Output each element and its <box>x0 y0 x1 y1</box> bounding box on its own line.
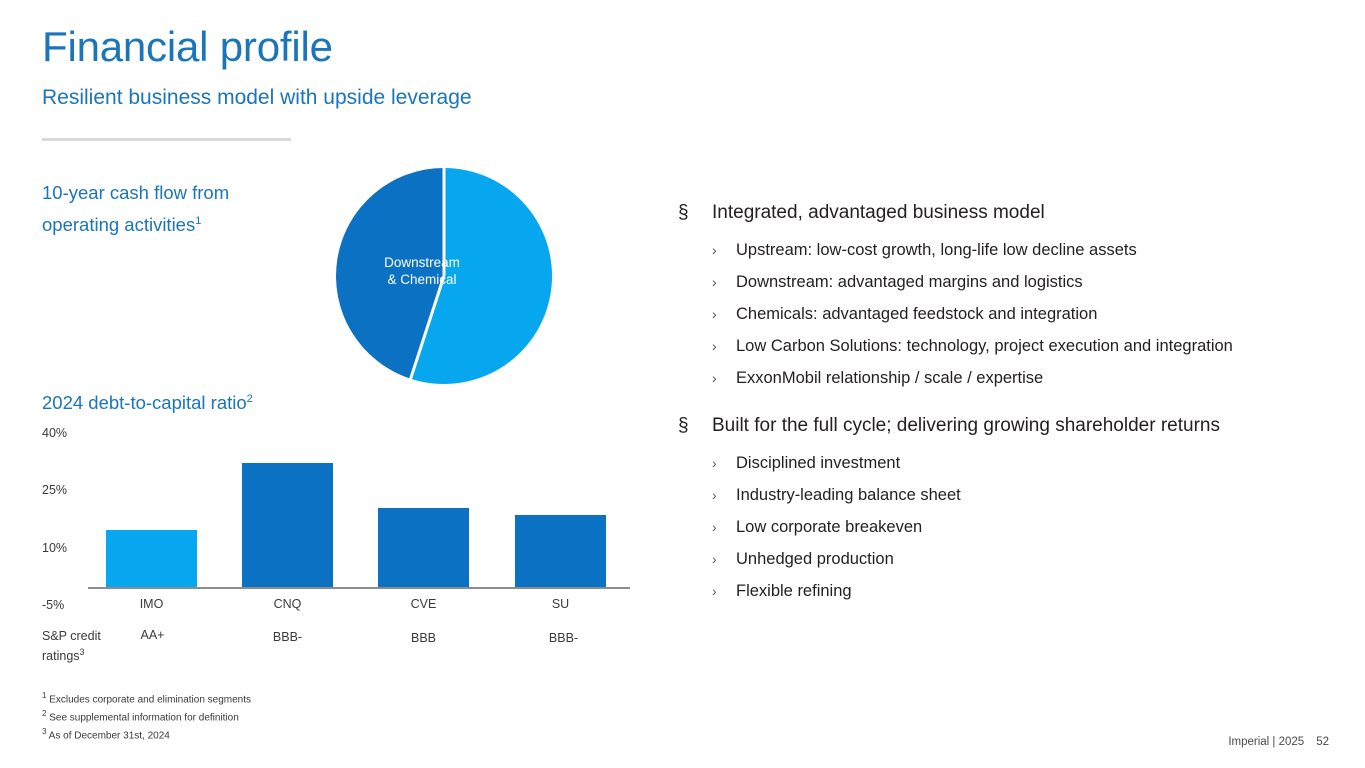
bar-cve <box>378 508 469 587</box>
x-axis-line <box>88 587 630 589</box>
bullet-item: › Low corporate breakeven <box>678 511 1338 543</box>
footnote-2: 2 See supplemental information for defin… <box>42 707 251 725</box>
y-axis-tick-10: 10% <box>42 541 88 555</box>
bullet-list: § Integrated, advantaged business model … <box>678 198 1338 624</box>
chevron-right-icon: › <box>712 479 736 511</box>
bullet-item: › ExxonMobil relationship / scale / expe… <box>678 362 1338 394</box>
pie-heading-footnote-marker: 1 <box>195 215 201 227</box>
bullet-item-text: Low corporate breakeven <box>736 511 922 543</box>
footnote-2-text: See supplemental information for definit… <box>46 712 238 723</box>
chevron-right-icon: › <box>712 447 736 479</box>
footnote-3: 3 As of December 31st, 2024 <box>42 725 251 743</box>
bullet-item-text: ExxonMobil relationship / scale / expert… <box>736 362 1043 394</box>
x-axis-label-cve: CVE <box>378 597 469 611</box>
footnote-1: 1 Excludes corporate and elimination seg… <box>42 689 251 707</box>
bar-chart-heading: 2024 debt-to-capital ratio2 <box>42 392 253 414</box>
footnotes-block: 1 Excludes corporate and elimination seg… <box>42 689 251 742</box>
bar-su <box>515 515 606 587</box>
page-title: Financial profile <box>42 24 333 70</box>
page-number: 52 <box>1316 736 1329 748</box>
bullet-item-text: Downstream: advantaged margins and logis… <box>736 266 1083 298</box>
slide-footer: Imperial | 202552 <box>1228 736 1329 748</box>
section-marker-icon: § <box>678 198 712 228</box>
y-axis-tick-40: 40% <box>42 426 88 440</box>
footnote-3-text: As of December 31st, 2024 <box>46 730 169 741</box>
bullet-heading-1: § Integrated, advantaged business model <box>678 198 1338 228</box>
chevron-right-icon: › <box>712 511 736 543</box>
pie-svg <box>336 168 552 384</box>
debt-to-capital-bar-chart: 40% 25% 10% -5% IMO CNQ CVE SU S&P credi… <box>42 420 642 670</box>
y-axis-tick-25: 25% <box>42 483 88 497</box>
footnote-1-text: Excludes corporate and elimination segme… <box>46 694 251 705</box>
bar-cnq <box>242 463 333 587</box>
footer-brand: Imperial | 2025 <box>1228 736 1304 748</box>
bullet-item: › Upstream: low-cost growth, long-life l… <box>678 234 1338 266</box>
bullet-heading-2-text: Built for the full cycle; delivering gro… <box>712 411 1220 441</box>
pie-chart-heading: 10-year cash flow from operating activit… <box>42 179 292 239</box>
pie-heading-line2: operating activities <box>42 214 195 235</box>
bullet-group-2: § Built for the full cycle; delivering g… <box>678 411 1338 607</box>
chevron-right-icon: › <box>712 234 736 266</box>
chevron-right-icon: › <box>712 543 736 575</box>
bullet-item: › Industry-leading balance sheet <box>678 479 1338 511</box>
bullet-heading-2: § Built for the full cycle; delivering g… <box>678 411 1338 441</box>
rating-value-cnq: BBB- <box>242 630 333 644</box>
bullet-item: › Disciplined investment <box>678 447 1338 479</box>
pie-heading-line1: 10-year cash flow from <box>42 182 229 203</box>
bullet-item-text: Chemicals: advantaged feedstock and inte… <box>736 298 1097 330</box>
cash-flow-pie-chart: Downstream & Chemical Upstream <box>336 168 552 384</box>
header-divider <box>42 138 291 141</box>
bullet-item-text: Unhedged production <box>736 543 894 575</box>
bullet-item-text: Upstream: low-cost growth, long-life low… <box>736 234 1137 266</box>
x-axis-label-su: SU <box>515 597 606 611</box>
chevron-right-icon: › <box>712 298 736 330</box>
sp-ratings-label-line2: ratings <box>42 649 80 663</box>
chevron-right-icon: › <box>712 575 736 607</box>
bullet-group-1: § Integrated, advantaged business model … <box>678 198 1338 394</box>
bullet-item: › Chemicals: advantaged feedstock and in… <box>678 298 1338 330</box>
chevron-right-icon: › <box>712 266 736 298</box>
chevron-right-icon: › <box>712 330 736 362</box>
bullet-item-text: Industry-leading balance sheet <box>736 479 961 511</box>
bar-imo <box>106 530 197 587</box>
bullet-item-text: Low Carbon Solutions: technology, projec… <box>736 330 1233 362</box>
section-marker-icon: § <box>678 411 712 441</box>
y-axis-tick-neg5: -5% <box>42 598 88 612</box>
bullet-item: › Unhedged production <box>678 543 1338 575</box>
bullet-item: › Low Carbon Solutions: technology, proj… <box>678 330 1338 362</box>
bullet-item-text: Disciplined investment <box>736 447 900 479</box>
bullet-heading-1-text: Integrated, advantaged business model <box>712 198 1045 228</box>
rating-value-su: BBB- <box>518 631 609 645</box>
bar-heading-footnote-marker: 2 <box>247 393 253 405</box>
rating-value-cve: BBB <box>378 631 469 645</box>
x-axis-label-imo: IMO <box>106 597 197 611</box>
rating-value-imo: AA+ <box>107 628 198 642</box>
x-axis-label-cnq: CNQ <box>242 597 333 611</box>
bar-heading-text: 2024 debt-to-capital ratio <box>42 392 247 413</box>
bullet-item: › Downstream: advantaged margins and log… <box>678 266 1338 298</box>
chevron-right-icon: › <box>712 362 736 394</box>
bullet-item: › Flexible refining <box>678 575 1338 607</box>
bullet-item-text: Flexible refining <box>736 575 852 607</box>
sp-ratings-label-line1: S&P credit <box>42 629 101 643</box>
page-subtitle: Resilient business model with upside lev… <box>42 86 472 110</box>
sp-ratings-footnote-marker: 3 <box>80 647 85 657</box>
